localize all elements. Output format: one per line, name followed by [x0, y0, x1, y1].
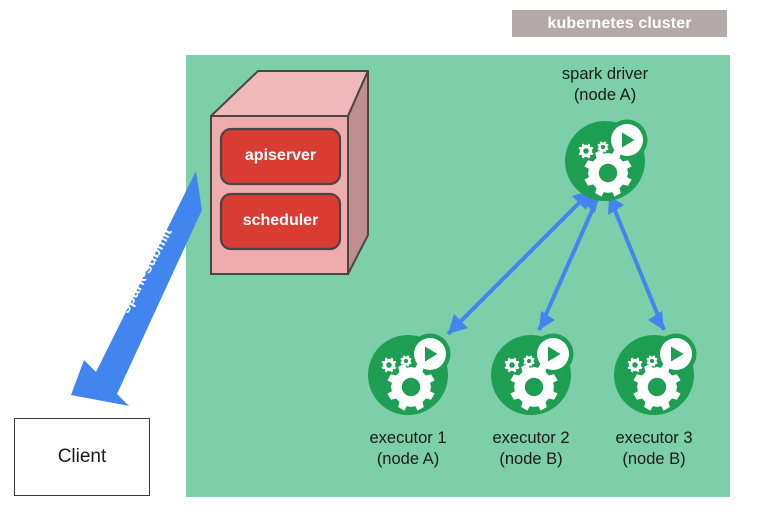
client-label: Client: [15, 446, 149, 468]
spark-driver-label-line1: spark driver: [525, 64, 685, 84]
executor-3-label-line2: (node B): [574, 449, 734, 469]
scheduler-label: scheduler: [221, 212, 340, 230]
kubernetes-cluster-tag: kubernetes cluster: [512, 10, 727, 37]
control-plane-cube: [211, 71, 368, 274]
apiserver-label: apiserver: [221, 147, 340, 165]
client-box: Client: [14, 418, 150, 496]
spark-driver-label-line2: (node A): [525, 85, 685, 105]
diagram-canvas: kubernetes cluster Client spark-submit a…: [0, 0, 761, 516]
executor-3-label-line1: executor 3: [574, 428, 734, 448]
